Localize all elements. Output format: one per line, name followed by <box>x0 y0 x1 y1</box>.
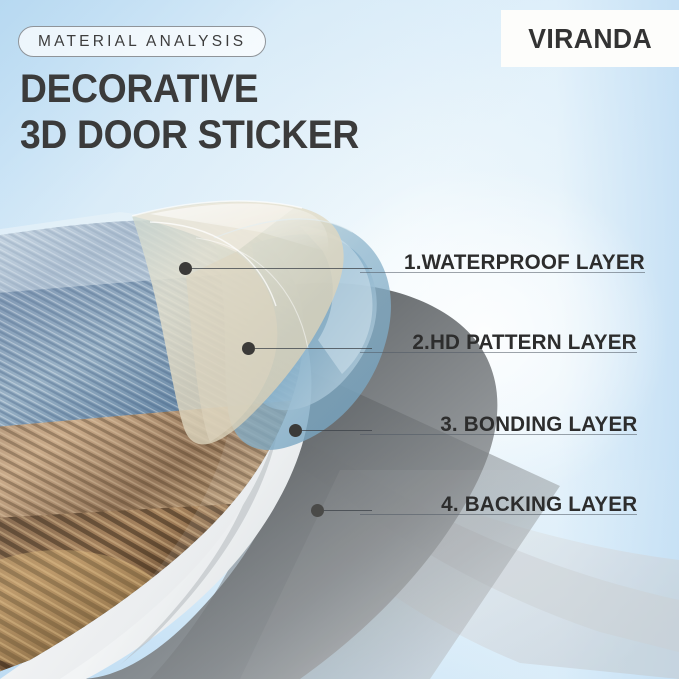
layer-callouts: 1.WATERPROOF LAYER 2.HD PATTERN LAYER 3.… <box>0 0 679 679</box>
callout-rule-hd-pattern <box>360 352 637 353</box>
callout-rule-waterproof <box>360 272 645 273</box>
callout-label-bonding-wrap: 3. BONDING LAYER <box>297 402 637 436</box>
callout-label-hd-pattern: 2.HD PATTERN LAYER <box>413 330 637 354</box>
callout-rule-bonding <box>360 434 637 435</box>
callout-dot-hd-pattern <box>242 342 255 355</box>
callout-label-waterproof: 1.WATERPROOF LAYER <box>404 250 645 274</box>
callout-label-hd-pattern-wrap: 2.HD PATTERN LAYER <box>297 320 637 354</box>
callout-label-backing-wrap: 4. BACKING LAYER <box>297 482 637 516</box>
callout-label-waterproof-wrap: 1.WATERPROOF LAYER <box>305 240 645 274</box>
material-analysis-infographic: MATERIAL ANALYSIS DECORATIVE 3D DOOR STI… <box>0 0 679 679</box>
callout-rule-backing <box>360 514 637 515</box>
callout-dot-waterproof <box>179 262 192 275</box>
callout-label-bonding: 3. BONDING LAYER <box>440 412 637 436</box>
callout-label-backing: 4. BACKING LAYER <box>441 492 637 516</box>
